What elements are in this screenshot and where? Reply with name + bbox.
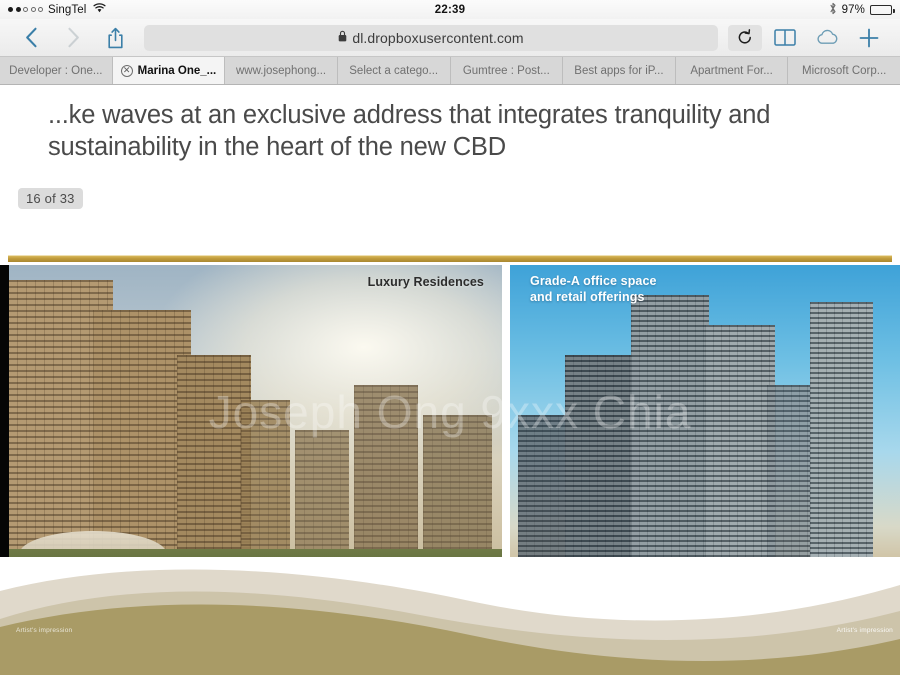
tab-bar: Developer : One...✕Marina One_...www.jos… bbox=[0, 57, 900, 85]
url-text: dl.dropboxusercontent.com bbox=[352, 30, 523, 46]
tab-label: Marina One_... bbox=[138, 65, 217, 77]
browser-tab[interactable]: www.josephong... bbox=[225, 57, 338, 84]
battery-icon bbox=[870, 5, 892, 15]
page-counter-badge: 16 of 33 bbox=[18, 188, 83, 209]
back-button[interactable] bbox=[12, 23, 50, 53]
artist-impression-note-left: Artist's impression bbox=[16, 627, 72, 634]
browser-tab[interactable]: ✕Marina One_... bbox=[113, 57, 226, 84]
gold-divider bbox=[8, 255, 892, 262]
browser-tab[interactable]: Gumtree : Post... bbox=[451, 57, 564, 84]
browser-tab[interactable]: Developer : One... bbox=[0, 57, 113, 84]
tab-label: Best apps for iP... bbox=[574, 65, 663, 77]
tab-label: Select a catego... bbox=[349, 65, 438, 77]
browser-tab[interactable]: Best apps for iP... bbox=[563, 57, 676, 84]
page-headline: ...ke waves at an exclusive address that… bbox=[0, 85, 900, 165]
battery-percent-label: 97% bbox=[842, 4, 865, 16]
web-page-content: ...ke waves at an exclusive address that… bbox=[0, 85, 900, 675]
icloud-tabs-button[interactable] bbox=[808, 23, 846, 53]
tab-label: Microsoft Corp... bbox=[802, 65, 886, 77]
tab-label: Developer : One... bbox=[9, 65, 102, 77]
bookmarks-button[interactable] bbox=[766, 23, 804, 53]
photo-caption-right-line2: and retail offerings bbox=[530, 289, 657, 305]
forward-button[interactable] bbox=[54, 23, 92, 53]
status-bar-right: 97% bbox=[829, 2, 892, 18]
close-circle-icon[interactable]: ✕ bbox=[121, 65, 133, 77]
footer-wave-decoration bbox=[0, 557, 900, 675]
tab-label: Apartment For... bbox=[690, 65, 772, 77]
browser-tab[interactable]: Microsoft Corp... bbox=[788, 57, 900, 84]
photo-caption-right: Grade-A office space and retail offering… bbox=[530, 273, 657, 305]
address-bar-container: dl.dropboxusercontent.com bbox=[138, 25, 724, 51]
artist-impression-note-right: Artist's impression bbox=[837, 627, 893, 634]
clock-label: 22:39 bbox=[0, 4, 900, 16]
photo-caption-right-line1: Grade-A office space bbox=[530, 273, 657, 289]
address-bar[interactable]: dl.dropboxusercontent.com bbox=[144, 25, 718, 51]
lock-icon bbox=[338, 29, 347, 47]
photo-caption-left: Luxury Residences bbox=[368, 275, 484, 289]
reload-button[interactable] bbox=[728, 25, 762, 51]
tab-label: Gumtree : Post... bbox=[463, 65, 550, 77]
tab-label: www.josephong... bbox=[236, 65, 326, 77]
browser-tab[interactable]: Apartment For... bbox=[676, 57, 789, 84]
browser-tab[interactable]: Select a catego... bbox=[338, 57, 451, 84]
share-icon[interactable] bbox=[96, 23, 134, 53]
new-tab-button[interactable] bbox=[850, 23, 888, 53]
bluetooth-icon bbox=[829, 2, 837, 18]
safari-toolbar: dl.dropboxusercontent.com bbox=[0, 19, 900, 57]
ios-status-bar: SingTel 22:39 97% bbox=[0, 0, 900, 19]
